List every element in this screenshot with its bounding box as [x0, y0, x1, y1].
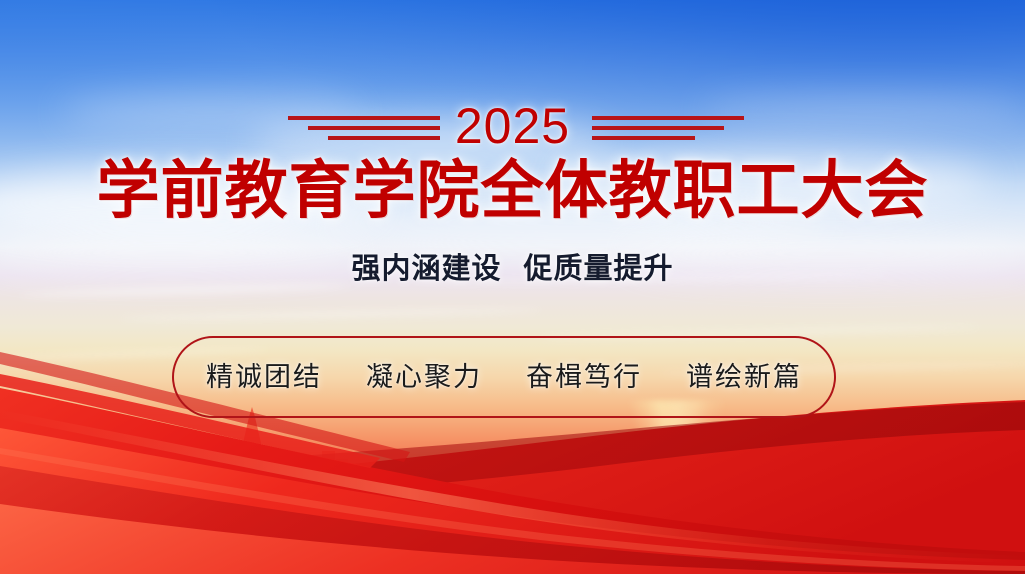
poster-slide: 2025 学前教育学院全体教职工大会 强内涵建设促质量提升 精诚团结 凝心聚力 …: [0, 0, 1025, 574]
slogan-list: 精诚团结 凝心聚力 奋楫笃行 谱绘新篇: [206, 360, 802, 394]
page-title: 学前教育学院全体教职工大会: [0, 155, 1025, 225]
slogan-item: 精诚团结: [206, 360, 322, 394]
slogan-item: 谱绘新篇: [686, 360, 802, 394]
subtitle: 强内涵建设促质量提升: [0, 250, 1025, 288]
year-label: 2025: [0, 99, 1025, 153]
subtitle-part-right: 促质量提升: [524, 253, 674, 285]
slogan-item: 凝心聚力: [366, 360, 482, 394]
subtitle-part-left: 强内涵建设: [351, 253, 501, 285]
slogan-pill-box: 精诚团结 凝心聚力 奋楫笃行 谱绘新篇: [172, 336, 836, 418]
slogan-item: 奋楫笃行: [526, 360, 642, 394]
